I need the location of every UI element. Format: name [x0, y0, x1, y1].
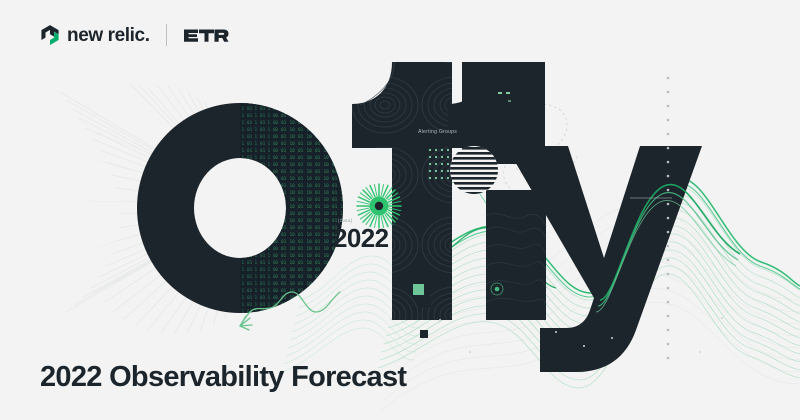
- dark-square-marker: [420, 296, 431, 307]
- letter-o: [137, 100, 345, 320]
- new-relic-logo[interactable]: new relic.: [40, 24, 150, 46]
- hero-artwork: 01 1 10 01: [0, 0, 800, 420]
- dotted-vertical-axis: [667, 77, 670, 360]
- logo-divider: [166, 24, 167, 46]
- logo-bar: new relic.: [40, 24, 229, 46]
- etr-logo-icon[interactable]: [183, 27, 229, 44]
- green-sunburst-icon: [357, 184, 401, 228]
- letter-one-first: [352, 62, 452, 320]
- alerting-groups-label: Alerting Groups: [418, 129, 457, 135]
- new-relic-logo-icon: [40, 24, 60, 46]
- tiny-dark-square: [420, 330, 428, 338]
- new-relic-wordmark: new relic.: [67, 26, 150, 45]
- green-square-marker: [413, 284, 424, 295]
- poster-canvas: 01 1 10 01: [0, 0, 800, 420]
- striped-circle-icon: [450, 146, 498, 195]
- year-label: 2022: [333, 225, 388, 251]
- page-title: 2022 Observability Forecast: [40, 363, 406, 392]
